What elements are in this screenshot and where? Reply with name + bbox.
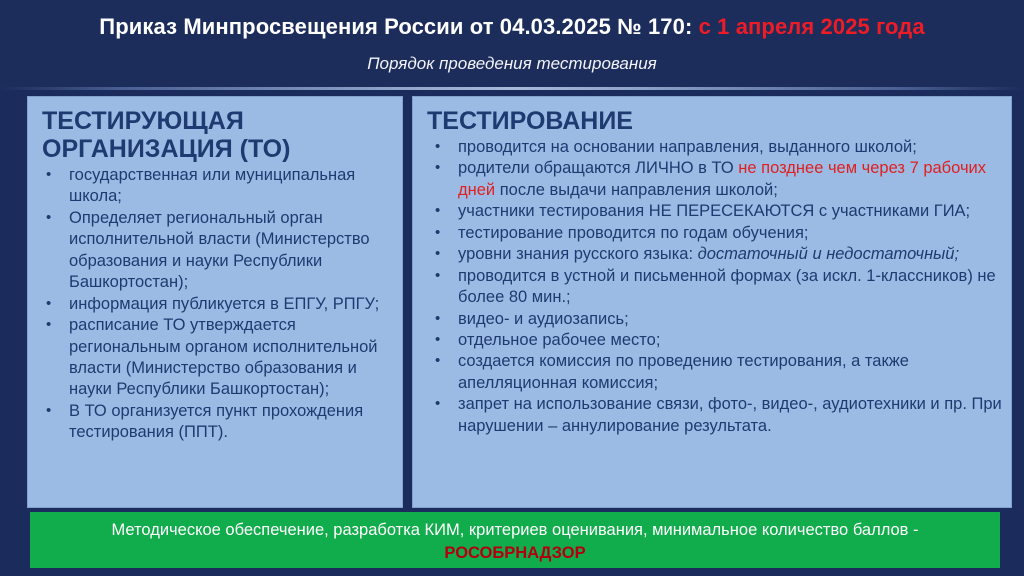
page-title-accent: с 1 апреля 2025 года (699, 14, 925, 39)
list-item: создается комиссия по проведению тестиро… (413, 351, 1011, 394)
list-item: родители обращаются ЛИЧНО в ТО не поздне… (413, 158, 1011, 201)
list-item: видео- и аудиозапись; (413, 309, 1011, 330)
list-item: тестирование проводится по годам обучени… (413, 223, 1011, 244)
list-item-text: уровни знания русского языка: (458, 245, 698, 263)
list-item-text: родители обращаются ЛИЧНО в ТО (458, 159, 738, 177)
list-item: проводится в устной и письменной формах … (413, 266, 1011, 309)
page-title-main: Приказ Минпросвещения России от 04.03.20… (99, 14, 692, 39)
page-title: Приказ Минпросвещения России от 04.03.20… (0, 14, 1024, 40)
page-subtitle: Порядок проведения тестирования (0, 54, 1024, 74)
panel-testing: ТЕСТИРОВАНИЕ проводится на основании нап… (412, 96, 1012, 508)
list-item: расписание ТО утверждается региональным … (28, 315, 402, 401)
footer-organization: РОСОБРНАДЗОР (30, 541, 1000, 564)
list-item: информация публикуется в ЕПГУ, РПГУ; (28, 294, 402, 315)
list-item: проводится на основании направления, выд… (413, 137, 1011, 158)
list-item: участники тестирования НЕ ПЕРЕСЕКАЮТСЯ с… (413, 201, 1011, 222)
list-item-text: видео- и аудиозапись; (458, 310, 629, 328)
bullet-list-testing-organization: государственная или муниципальная школа;… (28, 165, 402, 444)
slide: Приказ Минпросвещения России от 04.03.20… (0, 0, 1024, 576)
list-item: Определяет региональный орган исполнител… (28, 208, 402, 294)
list-item: отдельное рабочее место; (413, 330, 1011, 351)
list-item-text: тестирование проводится по годам обучени… (458, 224, 808, 242)
panel-heading-testing: ТЕСТИРОВАНИЕ (427, 107, 1011, 135)
header-divider (0, 87, 1024, 90)
emphasis-text: достаточный и недостаточный; (698, 245, 959, 263)
panel-heading-testing-organization: ТЕСТИРУЮЩАЯ ОРГАНИЗАЦИЯ (ТО) (42, 107, 402, 163)
footer-banner: Методическое обеспечение, разработка КИМ… (30, 512, 1000, 568)
list-item-text: проводится на основании направления, выд… (458, 138, 917, 156)
list-item: В ТО организуется пункт прохождения тест… (28, 401, 402, 444)
list-item: государственная или муниципальная школа; (28, 165, 402, 208)
footer-text: Методическое обеспечение, разработка КИМ… (30, 512, 1000, 541)
bullet-list-testing: проводится на основании направления, выд… (413, 137, 1011, 437)
list-item-text: создается комиссия по проведению тестиро… (458, 352, 909, 391)
list-item: запрет на использование связи, фото-, ви… (413, 394, 1011, 437)
list-item-text: отдельное рабочее место; (458, 331, 660, 349)
list-item-text: участники тестирования НЕ ПЕРЕСЕКАЮТСЯ с… (458, 202, 970, 220)
panel-testing-organization: ТЕСТИРУЮЩАЯ ОРГАНИЗАЦИЯ (ТО) государстве… (27, 96, 403, 508)
list-item-text: после выдачи направления школой; (495, 181, 778, 199)
list-item-text: проводится в устной и письменной формах … (458, 267, 996, 306)
list-item-text: запрет на использование связи, фото-, ви… (458, 395, 1002, 434)
list-item: уровни знания русского языка: достаточны… (413, 244, 1011, 265)
slide-header: Приказ Минпросвещения России от 04.03.20… (0, 0, 1024, 88)
